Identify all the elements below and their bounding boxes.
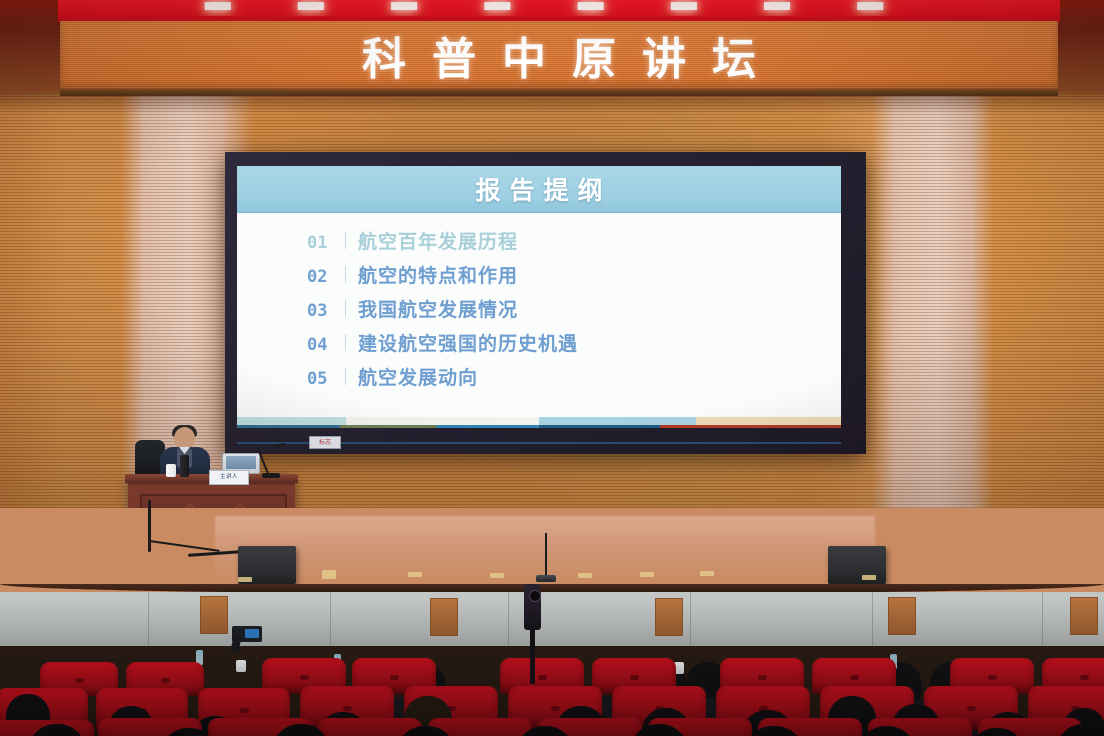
stage-tape-mark [322,574,336,579]
stage-tape-mark [862,575,876,580]
stage-tape-mark [578,573,592,578]
thermos-flask [180,455,189,477]
microphone-capsule [274,442,285,448]
stage-monitor-right [828,546,886,584]
floor-mic-stalk [545,533,547,575]
tea-mug [166,464,176,477]
stage-tape-mark [238,577,252,582]
speaker-nameplate-text: 主讲人 [220,475,238,481]
video-camera-rig [516,584,550,690]
cable-riser [148,500,151,552]
paper-cup [236,660,246,672]
audience-area [0,600,1104,736]
camera-lens [529,590,541,602]
video-camera-body [524,584,541,630]
lecture-hall-photo: ▬ ▬ ▬ ▬ ▬ ▬ ▬ ▬ 科普中原讲坛 报告提纲 01 航空百年发展历程 [0,0,1104,736]
audience-phone-recorder [232,626,262,642]
podium-microphone [248,444,286,476]
stage-floor-microphone [536,533,556,585]
stage-tape-mark [408,572,422,577]
microphone-base [262,473,280,478]
stage-tape-mark [490,573,504,578]
speaker-nameplate: 主讲人 [209,470,249,485]
stage-tape-mark [700,571,714,576]
phone-screen [245,629,259,638]
stage-tape-mark [640,572,654,577]
camera-tripod [530,628,535,684]
floor-mic-base [536,575,556,582]
